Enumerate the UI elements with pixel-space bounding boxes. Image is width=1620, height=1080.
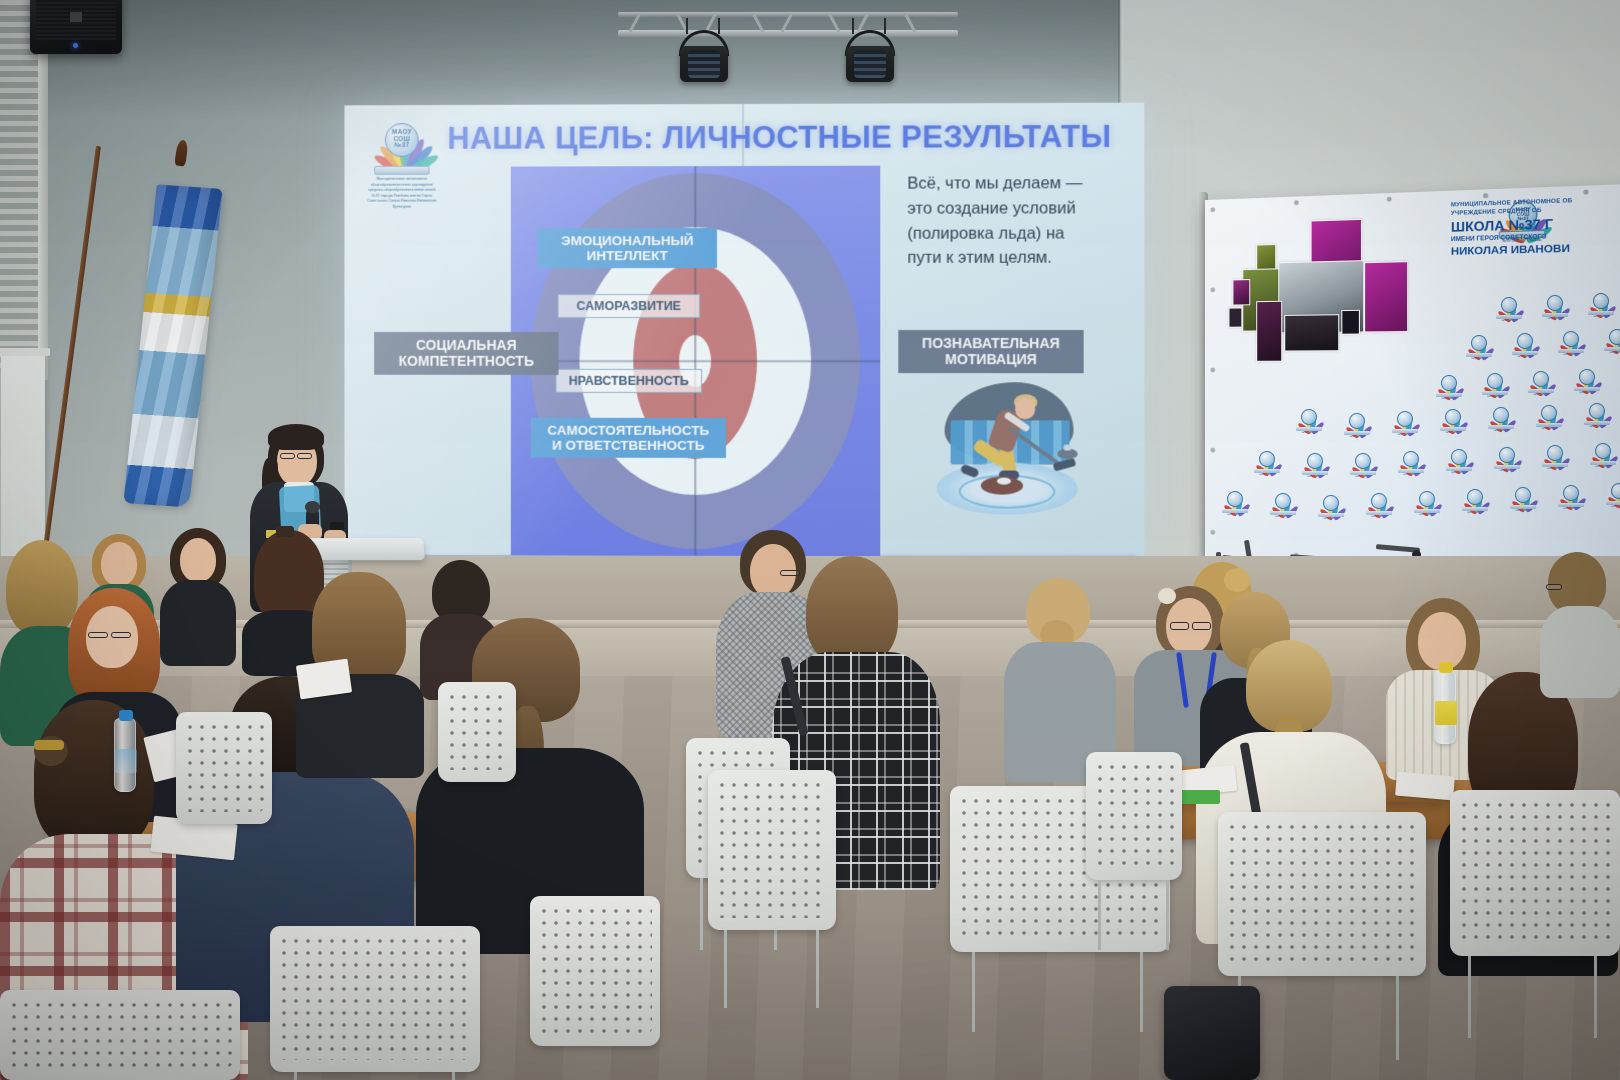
presenter-glasses-right [297,453,312,459]
emblem-line-3: №37 [394,143,409,150]
crosshair-horizontal [511,360,880,362]
attendee-right-glasses-l [1170,622,1189,630]
label-independence-responsibility: САМОСТОЯТЕЛЬНОСТЬ И ОТВЕТСТВЕННОСТЬ [531,418,726,458]
curling-illustration-icon [914,374,1090,525]
conference-hall-photo: МАОУ СОШ №37 Муниципальное автономное об… [0,0,1620,1080]
bottle-label [1435,701,1457,725]
window-frame [38,0,48,380]
ceiling-speaker [30,0,122,54]
flipchart-rail [0,348,50,356]
par-light-right-icon [842,30,898,82]
green-notebook [1180,790,1220,804]
attendee-right-far [1540,552,1620,692]
label-cognitive-motivation: ПОЗНАВАТЕЛЬНАЯ МОТИВАЦИЯ [898,330,1083,374]
hair-tie [34,740,64,750]
bottle-cap [1439,662,1453,673]
speaker-brand-plate [70,12,82,22]
truss-bottom-chord [618,30,958,37]
handout-right-2 [1395,772,1455,801]
label-emotional-intelligence: ЭМОЦИОНАЛЬНЫЙ ИНТЕЛЛЕКТ [538,228,717,268]
lighting-truss [618,14,958,48]
attendee-left-glasses-r [111,632,131,638]
school-emblem-icon: МАОУ СОШ №37 Муниципальное автономное об… [364,119,439,193]
emblem-disc: МАОУ СОШ №37 [385,123,419,157]
banner-photo-collage [1223,217,1428,416]
window-blinds [0,0,40,370]
flipchart-board [1,351,45,563]
slide-note-text: Всё, что мы делаем — это создание услови… [907,171,1098,271]
label-morality: НРАВСТВЕННОСТЬ [556,369,702,393]
label-self-development: САМОРАЗВИТИЕ [558,294,700,318]
speaker-power-led [73,43,78,48]
water-bottle-right [1434,670,1456,744]
presenter-glasses [280,453,295,459]
emblem-caption: Муниципальное автономное общеобразовател… [364,177,439,210]
handout-left-3 [296,659,352,700]
attendee-right-far-glasses [1546,584,1562,590]
par-light-left-icon [676,30,732,82]
bottle-cap-left [119,710,133,721]
target-diagram [511,166,880,557]
banner-title-block: МУНИЦИПАЛЬНОЕ АВТОНОМНОЕ ОБ УЧРЕЖДЕНИЕ С… [1451,194,1620,258]
label-social-competence: СОЦИАЛЬНАЯ КОМПЕТЕНТНОСТЬ [374,332,558,375]
water-bottle-left [114,718,136,792]
handbag [1164,986,1260,1080]
attendee-left-glasses-l [88,632,108,638]
hair-scrunchie [1158,588,1176,604]
attendee-center-grey [1004,578,1116,778]
bottle-label-left [115,749,137,773]
projected-slide: МАОУ СОШ №37 Муниципальное автономное об… [344,103,1144,558]
hair-clip [276,526,294,537]
slide-title: НАША ЦЕЛЬ: ЛИЧНОСТНЫЕ РЕЗУЛЬТАТЫ [447,119,1144,157]
